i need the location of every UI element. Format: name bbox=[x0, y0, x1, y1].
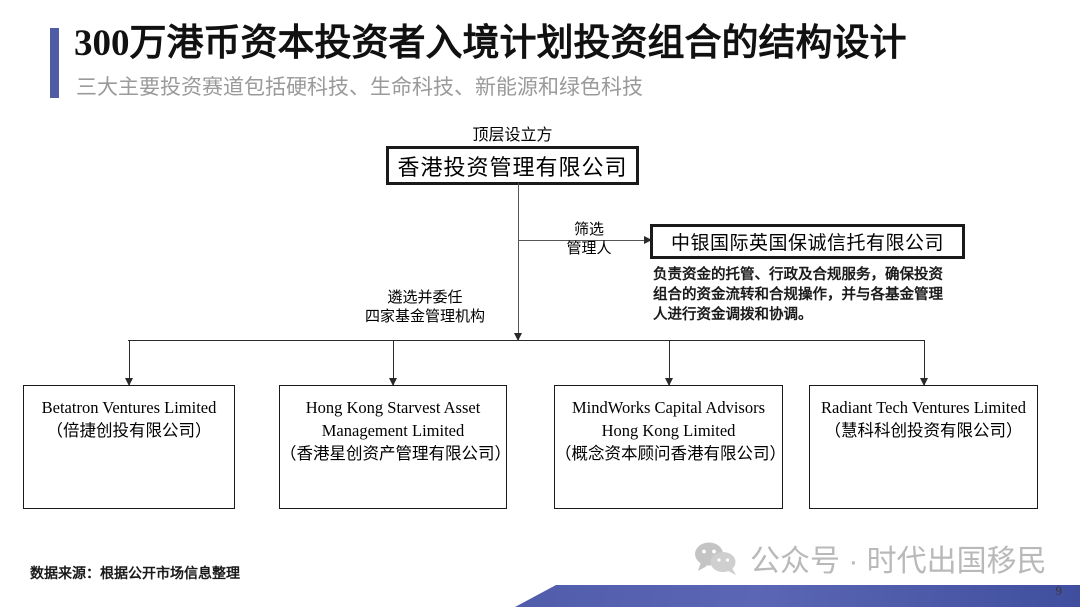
edge-label-appoint-funds: 遴选并委任 四家基金管理机构 bbox=[330, 289, 520, 327]
page-subtitle: 三大主要投资赛道包括硬科技、生命科技、新能源和绿色科技 bbox=[76, 74, 643, 100]
fund-3-name-cn: （概念资本顾问香港有限公司） bbox=[555, 442, 782, 465]
title-accent-bar bbox=[50, 28, 59, 98]
arrowhead-to-trustee-icon bbox=[644, 236, 652, 244]
fund-2-name-cn: （香港星创资产管理有限公司） bbox=[280, 442, 506, 465]
edge-label-screen-line2: 管理人 bbox=[566, 241, 611, 257]
slide-canvas: 300万港币资本投资者入境计划投资组合的结构设计 三大主要投资赛道包括硬科技、生… bbox=[0, 0, 1080, 607]
fund-1-name-en: Betatron Ventures Limited bbox=[42, 398, 217, 417]
fund-1-name-cn: （倍捷创投有限公司） bbox=[24, 419, 234, 442]
source-note: 数据来源：根据公开市场信息整理 bbox=[30, 563, 240, 583]
edge-label-screen-line1: 筛选 bbox=[574, 222, 604, 238]
fund-2-name-en: Hong Kong Starvest Asset Management Limi… bbox=[306, 398, 481, 440]
trustee-description: 负责资金的托管、行政及合规服务，确保投资组合的资金流转和合规操作，并与各基金管理… bbox=[653, 265, 953, 325]
fund-4-name-cn: （慧科科创投资有限公司） bbox=[810, 419, 1037, 442]
connector-distribution-bar bbox=[128, 340, 924, 341]
node-fund-1: Betatron Ventures Limited（倍捷创投有限公司） bbox=[23, 385, 235, 509]
node-top-entity: 香港投资管理有限公司 bbox=[388, 148, 637, 183]
edge-label-appoint-line1: 遴选并委任 bbox=[387, 290, 462, 306]
fund-4-name-en: Radiant Tech Ventures Limited bbox=[821, 398, 1026, 417]
node-trustee: 中银国际英国保诚信托有限公司 bbox=[652, 226, 963, 257]
node-fund-3: MindWorks Capital Advisors Hong Kong Lim… bbox=[554, 385, 783, 509]
page-title: 300万港币资本投资者入境计划投资组合的结构设计 bbox=[74, 22, 907, 66]
footer-accent-bar bbox=[0, 585, 1080, 607]
wechat-icon bbox=[694, 541, 738, 583]
fund-3-name-en: MindWorks Capital Advisors Hong Kong Lim… bbox=[572, 398, 765, 440]
edge-label-screen-manager: 筛选 管理人 bbox=[556, 221, 622, 259]
watermark: 公众号 · 时代出国移民 bbox=[694, 541, 1047, 583]
page-number: 9 bbox=[1056, 583, 1063, 599]
top-node-caption: 顶层设立方 bbox=[388, 121, 637, 145]
node-fund-2: Hong Kong Starvest Asset Management Limi… bbox=[279, 385, 507, 509]
node-fund-4: Radiant Tech Ventures Limited（慧科科创投资有限公司… bbox=[809, 385, 1038, 509]
edge-label-appoint-line2: 四家基金管理机构 bbox=[365, 309, 485, 325]
watermark-text: 公众号 · 时代出国移民 bbox=[750, 545, 1047, 579]
